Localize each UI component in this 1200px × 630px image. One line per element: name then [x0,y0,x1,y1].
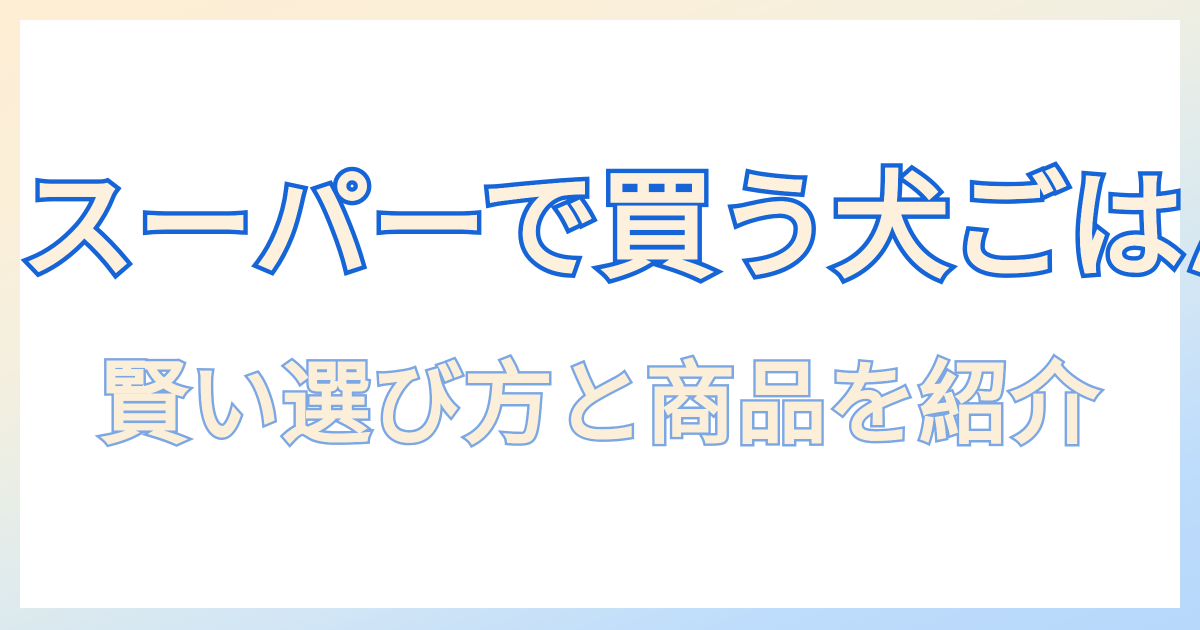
page-title: スーパーで買う犬ごはん スーパーで買う犬ごはん [20,170,1180,286]
page-title-fill: スーパーで買う犬ごはん [20,160,1200,295]
page-subtitle-fill: 賢い選び方と商品を紹介 [99,352,1101,457]
content-card: スーパーで買う犬ごはん スーパーで買う犬ごはん 賢い選び方と商品を紹介 賢い選び… [20,20,1180,608]
thumbnail-canvas: スーパーで買う犬ごはん スーパーで買う犬ごはん 賢い選び方と商品を紹介 賢い選び… [0,0,1200,630]
page-subtitle: 賢い選び方と商品を紹介 賢い選び方と商品を紹介 [20,360,1180,450]
headline-stack: スーパーで買う犬ごはん スーパーで買う犬ごはん 賢い選び方と商品を紹介 賢い選び… [20,170,1180,450]
